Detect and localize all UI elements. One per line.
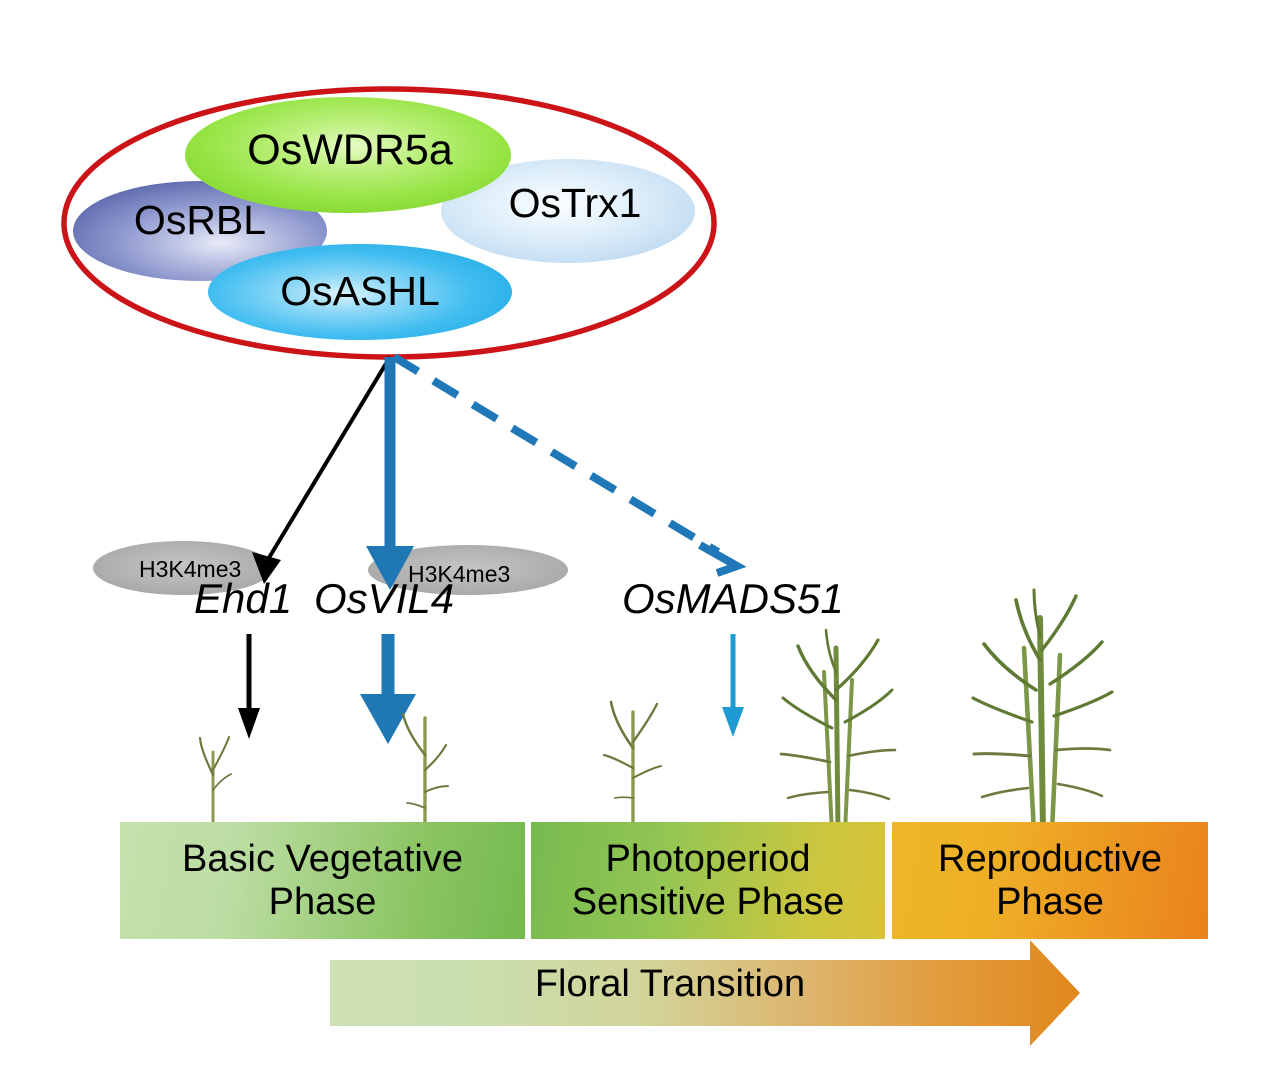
phase-bar-photoperiod-sensitive: Photoperiod Sensitive Phase [531,822,885,939]
gene-label-osvil4: OsVIL4 [314,578,454,620]
diagram-text: OsWDR5a OsRBL OsTrx1 OsASHL H3K4me3 H3K4… [0,0,1269,1079]
protein-label-oswdr5a: OsWDR5a [200,129,500,172]
phase-line-1: Basic Vegetative [182,838,463,880]
protein-label-osashl: OsASHL [220,271,500,312]
phase-bar-text: Reproductive Phase [938,838,1162,923]
phase-line-2: Phase [996,881,1104,923]
h3k4me3-label-ehd1: H3K4me3 [139,556,241,583]
phase-bar-text: Photoperiod Sensitive Phase [572,838,845,923]
phase-bar-reproductive: Reproductive Phase [892,822,1208,939]
protein-label-osrbl: OsRBL [80,200,320,241]
gene-label-osmads51: OsMADS51 [622,578,844,620]
floral-transition-label: Floral Transition [330,963,1010,1006]
phase-bar-text: Basic Vegetative Phase [182,838,463,923]
h3k4me3-label-osvil4: H3K4me3 [408,561,510,588]
phase-line-2: Phase [269,881,377,923]
phase-line-1: Photoperiod [606,838,811,880]
phase-line-2: Sensitive Phase [572,881,845,923]
pathway-diagram: OsWDR5a OsRBL OsTrx1 OsASHL H3K4me3 H3K4… [0,0,1269,1079]
phase-bar-basic-vegetative: Basic Vegetative Phase [120,822,525,939]
gene-label-ehd1: Ehd1 [194,578,292,620]
protein-label-ostrx1: OsTrx1 [460,183,690,224]
phase-line-1: Reproductive [938,838,1162,880]
